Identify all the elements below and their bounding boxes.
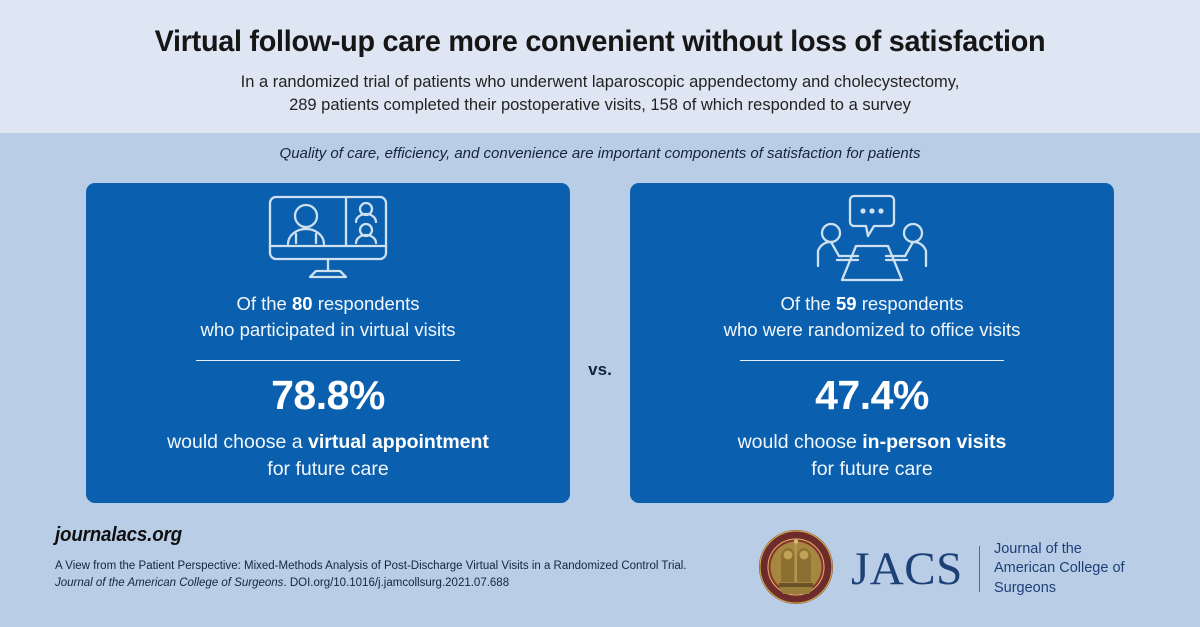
choose-line-2: for future care <box>86 456 570 483</box>
section-caption: Quality of care, efficiency, and conveni… <box>0 145 1200 162</box>
subtitle-line-2: 289 patients completed their postoperati… <box>0 94 1200 117</box>
stat-value-office: 47.4% <box>630 375 1114 416</box>
panel-divider-rule <box>196 360 460 362</box>
respondents-prefix: Of the <box>780 293 836 314</box>
citation-line-1: A View from the Patient Perspective: Mix… <box>55 560 618 572</box>
logo-divider <box>979 546 980 592</box>
header-subtitle: In a randomized trial of patients who un… <box>0 71 1200 118</box>
respondents-text-virtual: Of the 80 respondents who participated i… <box>86 291 570 344</box>
choose-line-1: would choose a virtual appointment <box>86 429 570 456</box>
choose-prefix: would choose <box>738 431 863 453</box>
video-call-monitor-icon <box>86 183 570 275</box>
header-band: Virtual follow-up care more convenient w… <box>0 0 1200 133</box>
citation-journal-name: Journal of the American College of Surge… <box>55 577 283 589</box>
jacs-logo: JACS Journal of the American College of … <box>757 529 1157 609</box>
vs-label: vs. <box>570 360 630 380</box>
choose-text-virtual: would choose a virtual appointment for f… <box>86 429 570 484</box>
choose-line-2: for future care <box>630 456 1114 483</box>
choose-line-1: would choose in-person visits <box>630 429 1114 456</box>
panel-divider-rule <box>740 360 1004 362</box>
american-college-of-surgeons-seal <box>757 528 835 611</box>
respondents-line-2: who were randomized to office visits <box>630 317 1114 343</box>
panel-office-visits: Of the 59 respondents who were randomize… <box>630 183 1114 503</box>
respondents-prefix: Of the <box>236 293 292 314</box>
respondents-line-1: Of the 80 respondents <box>86 291 570 317</box>
choose-text-office: would choose in-person visits for future… <box>630 429 1114 484</box>
respondents-suffix: respondents <box>313 293 420 314</box>
page-title: Virtual follow-up care more convenient w… <box>24 0 1176 57</box>
respondents-line-2: who participated in virtual visits <box>86 317 570 343</box>
respondents-count: 59 <box>836 293 857 314</box>
citation-prefix: Control Trial. <box>621 560 686 572</box>
jacs-name-line-2: American College of Surgeons <box>994 559 1157 598</box>
choose-prefix: would choose a <box>167 431 308 453</box>
choose-emphasis: in-person visits <box>862 431 1006 453</box>
subtitle-line-1: In a randomized trial of patients who un… <box>0 71 1200 94</box>
respondents-count: 80 <box>292 293 313 314</box>
jacs-name-line-1: Journal of the <box>994 540 1157 559</box>
in-person-meeting-icon <box>630 183 1114 275</box>
stat-value-virtual: 78.8% <box>86 375 570 416</box>
panel-virtual-visits: Of the 80 respondents who participated i… <box>86 183 570 503</box>
jacs-full-name: Journal of the American College of Surge… <box>994 540 1157 598</box>
jacs-wordmark: JACS <box>851 546 963 593</box>
citation-doi: . DOI.org/10.1016/j.jamcollsurg.2021.07.… <box>283 577 509 589</box>
journal-website-link[interactable]: journalacs.org <box>55 524 182 547</box>
respondents-text-office: Of the 59 respondents who were randomize… <box>630 291 1114 344</box>
respondents-suffix: respondents <box>857 293 964 314</box>
respondents-line-1: Of the 59 respondents <box>630 291 1114 317</box>
choose-emphasis: virtual appointment <box>308 431 489 453</box>
citation-text: A View from the Patient Perspective: Mix… <box>55 558 715 593</box>
